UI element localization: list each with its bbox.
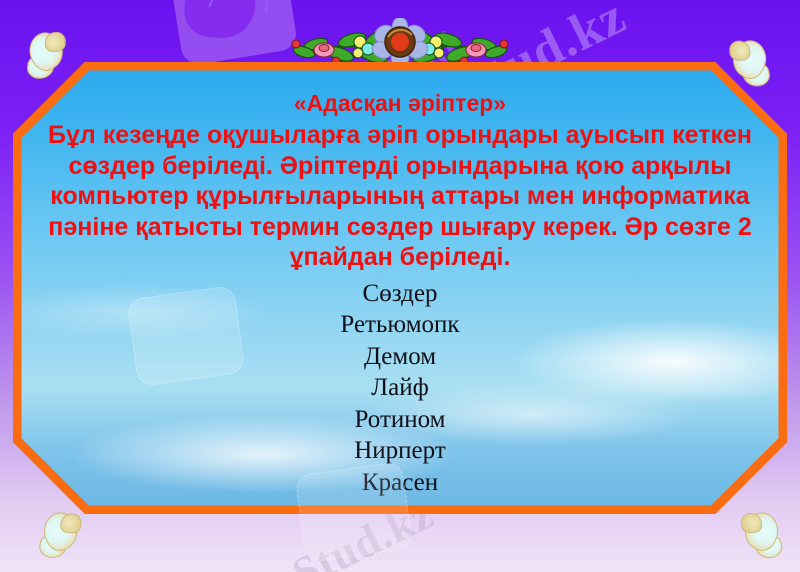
- card-body: Бұл кезеңде оқушыларға әріп орындары ауы…: [13, 120, 787, 273]
- rounded-plate-shape: [170, 0, 299, 67]
- body-line: ұпайдан беріледі.: [27, 242, 773, 273]
- body-line: сөздер беріледі. Әріптерді орындарына қо…: [27, 151, 773, 182]
- list-item: Лайф: [13, 372, 787, 404]
- list-item: Ретьюмопк: [13, 309, 787, 341]
- list-item: Нирперт: [13, 435, 787, 467]
- word-list: Сөздер Ретьюмопк Демом Лайф Ротином Нирп…: [13, 278, 787, 499]
- card-content: «Адасқан әріптер» Бұл кезеңде оқушыларға…: [13, 62, 787, 514]
- list-item: Демом: [13, 341, 787, 373]
- list-item: Ротином: [13, 404, 787, 436]
- slide-canvas: Stud.kz kz - Stud Stud.kz d.kz - Stud St…: [0, 0, 800, 572]
- body-line: Бұл кезеңде оқушыларға әріп орындары ауы…: [27, 120, 773, 151]
- list-item: Красен: [13, 467, 787, 499]
- body-line: пәніне қатысты термин сөздер шығару кере…: [27, 212, 773, 243]
- butterfly-icon: [734, 508, 789, 562]
- butterfly-icon: [33, 509, 87, 561]
- word-list-heading: Сөздер: [13, 278, 787, 310]
- card-title: «Адасқан әріптер»: [13, 90, 787, 116]
- body-line: компьютер құрылғыларының аттары мен инфо…: [27, 181, 773, 212]
